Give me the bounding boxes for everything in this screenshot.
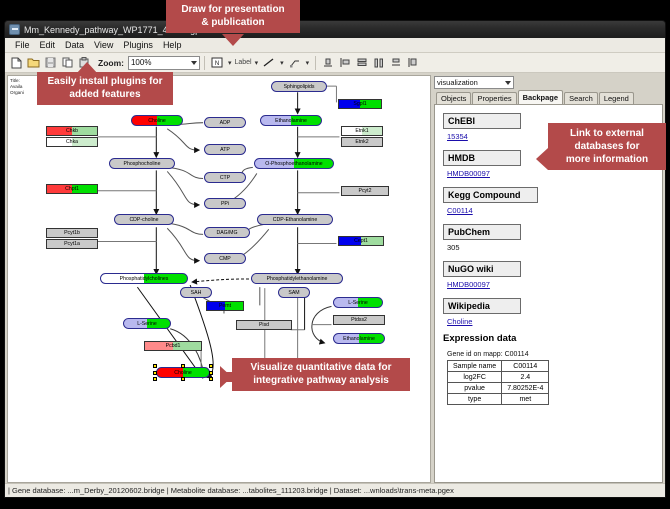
node-label: Pcyt1a	[64, 241, 80, 247]
align-height-icon[interactable]	[371, 55, 387, 71]
zoom-label: Zoom:	[98, 58, 124, 68]
tab-objects[interactable]: Objects	[436, 92, 471, 104]
node-label: SAM	[288, 290, 299, 296]
node-label: Pcbd1	[166, 343, 181, 349]
window-titlebar: Mm_Kennedy_pathway_WP1771_45176.gpml	[5, 21, 665, 38]
line-dropdown-icon[interactable]: ▾	[278, 59, 286, 67]
metabolite-node[interactable]: Phosphocholine	[109, 158, 175, 169]
node-label: Pisd	[259, 322, 269, 328]
zoom-value: 100%	[131, 58, 151, 67]
callout-draw-arrow-icon	[222, 34, 244, 46]
node-label: SAH	[191, 290, 202, 296]
backpage-link-hmdb[interactable]: HMDB00097	[447, 169, 656, 178]
node-label: Pemt	[219, 303, 231, 309]
callout-visualize-text: Visualize quantitative data forintegrati…	[251, 362, 392, 386]
backpage-link-nugo[interactable]: HMDB00097	[447, 280, 656, 289]
cell-sample-name-label: Sample name	[448, 361, 502, 372]
node-label: CDP-Ethanolamine	[273, 217, 317, 223]
menu-plugins[interactable]: Plugins	[118, 40, 158, 50]
node-label: Choline	[148, 118, 166, 124]
data-node-dropdown-icon[interactable]: ▾	[226, 59, 234, 67]
selection-handle[interactable]	[209, 364, 213, 368]
table-row: Sample name C00114	[448, 361, 549, 372]
pathway-canvas[interactable]: Title: Availa Organi	[7, 75, 431, 483]
metabolite-node[interactable]: Phosphatidylethanolamine	[251, 273, 343, 284]
metabolite-node[interactable]: CTP	[204, 172, 246, 183]
selection-handle[interactable]	[209, 371, 213, 375]
gene-product-node[interactable]: Chkb	[46, 126, 98, 136]
node-label: Ethanolamine	[275, 118, 307, 124]
chevron-down-icon	[505, 81, 511, 85]
gene-product-node[interactable]: Sgpl1	[338, 99, 382, 109]
metabolite-node[interactable]: L-Serine	[333, 297, 383, 308]
app-icon	[9, 24, 20, 35]
zoom-combobox[interactable]: 100%	[128, 56, 200, 70]
cell-log2fc-label: log2FC	[448, 372, 502, 383]
canvas-meta-title: Title:	[10, 78, 20, 83]
callout-visualize: Visualize quantitative data forintegrati…	[232, 358, 410, 391]
statusbar: | Gene database: ...m_Derby_20120602.bri…	[5, 483, 665, 497]
selection-handle[interactable]	[181, 377, 185, 381]
callout-links: Link to externaldatabases formore inform…	[548, 123, 666, 170]
node-label: Pcyt2	[359, 188, 372, 194]
node-label: O-Phosphoethanolamine	[265, 161, 322, 167]
menu-view[interactable]: View	[89, 40, 118, 50]
metabolite-node[interactable]: L-Serine	[123, 318, 171, 329]
node-label: Etnk2	[355, 139, 368, 145]
selection-handle[interactable]	[153, 371, 157, 375]
data-node-icon[interactable]: N	[209, 55, 225, 71]
tab-search[interactable]: Search	[564, 92, 598, 104]
callout-plugins: Easily install plugins foradded features	[37, 72, 173, 105]
save-disk-icon[interactable]	[42, 55, 58, 71]
metabolite-node[interactable]: Sphingolipids	[271, 81, 327, 92]
metabolite-node[interactable]: Ethanolamine	[260, 115, 322, 126]
backpage-header-pubchem: PubChem	[443, 224, 521, 240]
table-row: pvalue 7.80252E-4	[448, 383, 549, 394]
align-top-icon[interactable]	[320, 55, 336, 71]
gene-product-node[interactable]: Pcyt2	[341, 186, 389, 196]
gene-product-node[interactable]: Pcyt1a	[46, 239, 98, 249]
metabolite-node[interactable]: Phosphatidylcholines	[100, 273, 188, 284]
metabolite-node[interactable]: CDP-Ethanolamine	[257, 214, 333, 225]
stack-left-icon[interactable]	[405, 55, 421, 71]
node-label: L-Serine	[348, 300, 368, 306]
visualization-row: visualization	[434, 75, 663, 90]
gene-product-node[interactable]: Chpt1	[46, 184, 98, 194]
selection-handle[interactable]	[153, 377, 157, 381]
selection-handle[interactable]	[209, 377, 213, 381]
menubar: File Edit Data View Plugins Help	[5, 38, 665, 53]
align-left-icon[interactable]	[337, 55, 353, 71]
backpage-header-wikipedia: Wikipedia	[443, 298, 521, 314]
node-label: Chpt1	[65, 186, 79, 192]
cell-sample-name-value: C00114	[502, 361, 549, 372]
backpage-header-kegg: Kegg Compound	[443, 187, 538, 203]
metabolite-node[interactable]: Ethanolamine	[333, 333, 385, 344]
cell-type-label: type	[448, 394, 502, 405]
toolbar-separator-2	[315, 56, 316, 70]
toolbar: Zoom: 100% N ▾ Label ▾ ▾ ▾	[5, 53, 665, 73]
canvas-meta-available: Availa	[10, 84, 22, 89]
node-label: Etnk1	[355, 128, 368, 134]
gene-product-node[interactable]: Ptdss2	[333, 315, 385, 325]
gene-product-node[interactable]: Pcyt1b	[46, 228, 98, 238]
gene-product-node[interactable]: Chka	[46, 137, 98, 147]
copy-icon[interactable]	[59, 55, 75, 71]
node-label: Sphingolipids	[284, 84, 315, 90]
metabolite-node[interactable]: Choline	[131, 115, 183, 126]
tab-backpage[interactable]: Backpage	[518, 90, 563, 104]
gene-product-node[interactable]: Pisd	[236, 320, 292, 330]
node-label: Chkb	[66, 128, 78, 134]
align-width-icon[interactable]	[354, 55, 370, 71]
menu-data[interactable]: Data	[60, 40, 89, 50]
canvas-meta-organism: Organi	[10, 90, 24, 95]
toolbar-separator	[204, 56, 205, 70]
node-label: Phosphocholine	[124, 161, 161, 167]
node-label: Phosphatidylethanolamine	[267, 276, 328, 282]
node-label: Sgpl1	[353, 101, 366, 107]
tab-properties[interactable]: Properties	[472, 92, 516, 104]
expression-data-title: Expression data	[443, 333, 656, 344]
callout-draw-text: Draw for presentation& publication	[181, 4, 284, 28]
interaction-icon[interactable]	[287, 55, 303, 71]
backpage-header-chebi: ChEBI	[443, 113, 521, 129]
gene-product-node[interactable]: Cept1	[338, 236, 384, 246]
open-folder-icon[interactable]	[25, 55, 41, 71]
node-label: CMP	[219, 256, 231, 262]
callout-links-text: Link to externaldatabases formore inform…	[566, 128, 648, 165]
backpage-header-hmdb: HMDB	[443, 150, 521, 166]
node-label: Pcyt1b	[64, 230, 80, 236]
selection-handle[interactable]	[153, 364, 157, 368]
node-label: CTP	[220, 175, 230, 181]
statusbar-text: | Gene database: ...m_Derby_20120602.bri…	[8, 486, 454, 495]
node-label: DAG/MG	[216, 230, 237, 236]
menu-help[interactable]: Help	[158, 40, 187, 50]
node-label: PPi	[221, 201, 229, 207]
cell-log2fc-value: 2.4	[502, 372, 549, 383]
node-label: Cept1	[354, 238, 368, 244]
gene-product-node[interactable]: Etnk2	[341, 137, 383, 147]
cell-type-value: met	[502, 394, 549, 405]
metabolite-node[interactable]: DAG/MG	[204, 227, 250, 238]
metabolite-node[interactable]: SAM	[278, 287, 310, 298]
visualization-select[interactable]: visualization	[434, 76, 514, 89]
svg-text:N: N	[215, 61, 219, 67]
interaction-dropdown-icon[interactable]: ▾	[304, 59, 312, 67]
cell-pvalue-value: 7.80252E-4	[502, 383, 549, 394]
node-label: Ethanolamine	[343, 336, 375, 342]
expression-table: Sample name C00114 log2FC 2.4 pvalue 7.8…	[447, 360, 549, 405]
node-label: ATP	[220, 147, 230, 153]
callout-plugins-text: Easily install plugins foradded features	[47, 76, 162, 100]
selection-handle[interactable]	[181, 364, 185, 368]
callout-links-arrow-icon	[536, 148, 548, 170]
backpage-link-wikipedia[interactable]: Choline	[447, 317, 656, 326]
node-label: Ptdss2	[351, 317, 367, 323]
stack-center-icon[interactable]	[388, 55, 404, 71]
metabolite-node[interactable]: O-Phosphoethanolamine	[254, 158, 334, 169]
table-row: log2FC 2.4	[448, 372, 549, 383]
node-label: L-Serine	[137, 321, 157, 327]
metabolite-node[interactable]: SAH	[180, 287, 212, 298]
menu-edit[interactable]: Edit	[35, 40, 61, 50]
backpage-link-kegg[interactable]: C00114	[447, 206, 656, 215]
gene-product-node[interactable]: Pcbd1	[144, 341, 202, 351]
sidebar-tabstrip: Objects Properties Backpage Search Legen…	[434, 90, 663, 104]
gene-product-node[interactable]: Pemt	[206, 301, 244, 311]
label-tool-label[interactable]: Label	[234, 59, 251, 66]
new-document-icon[interactable]	[8, 55, 24, 71]
node-label: Choline	[174, 370, 192, 376]
node-label: Phosphatidylcholines	[120, 276, 169, 282]
line-icon[interactable]	[261, 55, 277, 71]
menu-file[interactable]: File	[10, 40, 35, 50]
metabolite-node[interactable]: PPi	[204, 198, 246, 209]
backpage-value-pubchem: 305	[447, 243, 656, 252]
label-dropdown-icon[interactable]: ▾	[253, 59, 261, 67]
visualization-value: visualization	[437, 78, 478, 87]
chevron-down-icon	[191, 61, 197, 65]
metabolite-node[interactable]: CMP	[204, 253, 246, 264]
gene-product-node[interactable]: Etnk1	[341, 126, 383, 136]
callout-draw: Draw for presentation& publication	[166, 0, 300, 33]
metabolite-node[interactable]: ATP	[204, 144, 246, 155]
table-row: type met	[448, 394, 549, 405]
metabolite-node[interactable]: ADP	[204, 117, 246, 128]
metabolite-node[interactable]: CDP-choline	[114, 214, 174, 225]
node-label: ADP	[220, 120, 231, 126]
node-label: Chka	[66, 139, 78, 145]
gene-id-label: Gene id on mapp: C00114	[447, 351, 656, 358]
node-label: CDP-choline	[129, 217, 158, 223]
cell-pvalue-label: pvalue	[448, 383, 502, 394]
tab-legend[interactable]: Legend	[599, 92, 634, 104]
backpage-header-nugo: NuGO wiki	[443, 261, 521, 277]
